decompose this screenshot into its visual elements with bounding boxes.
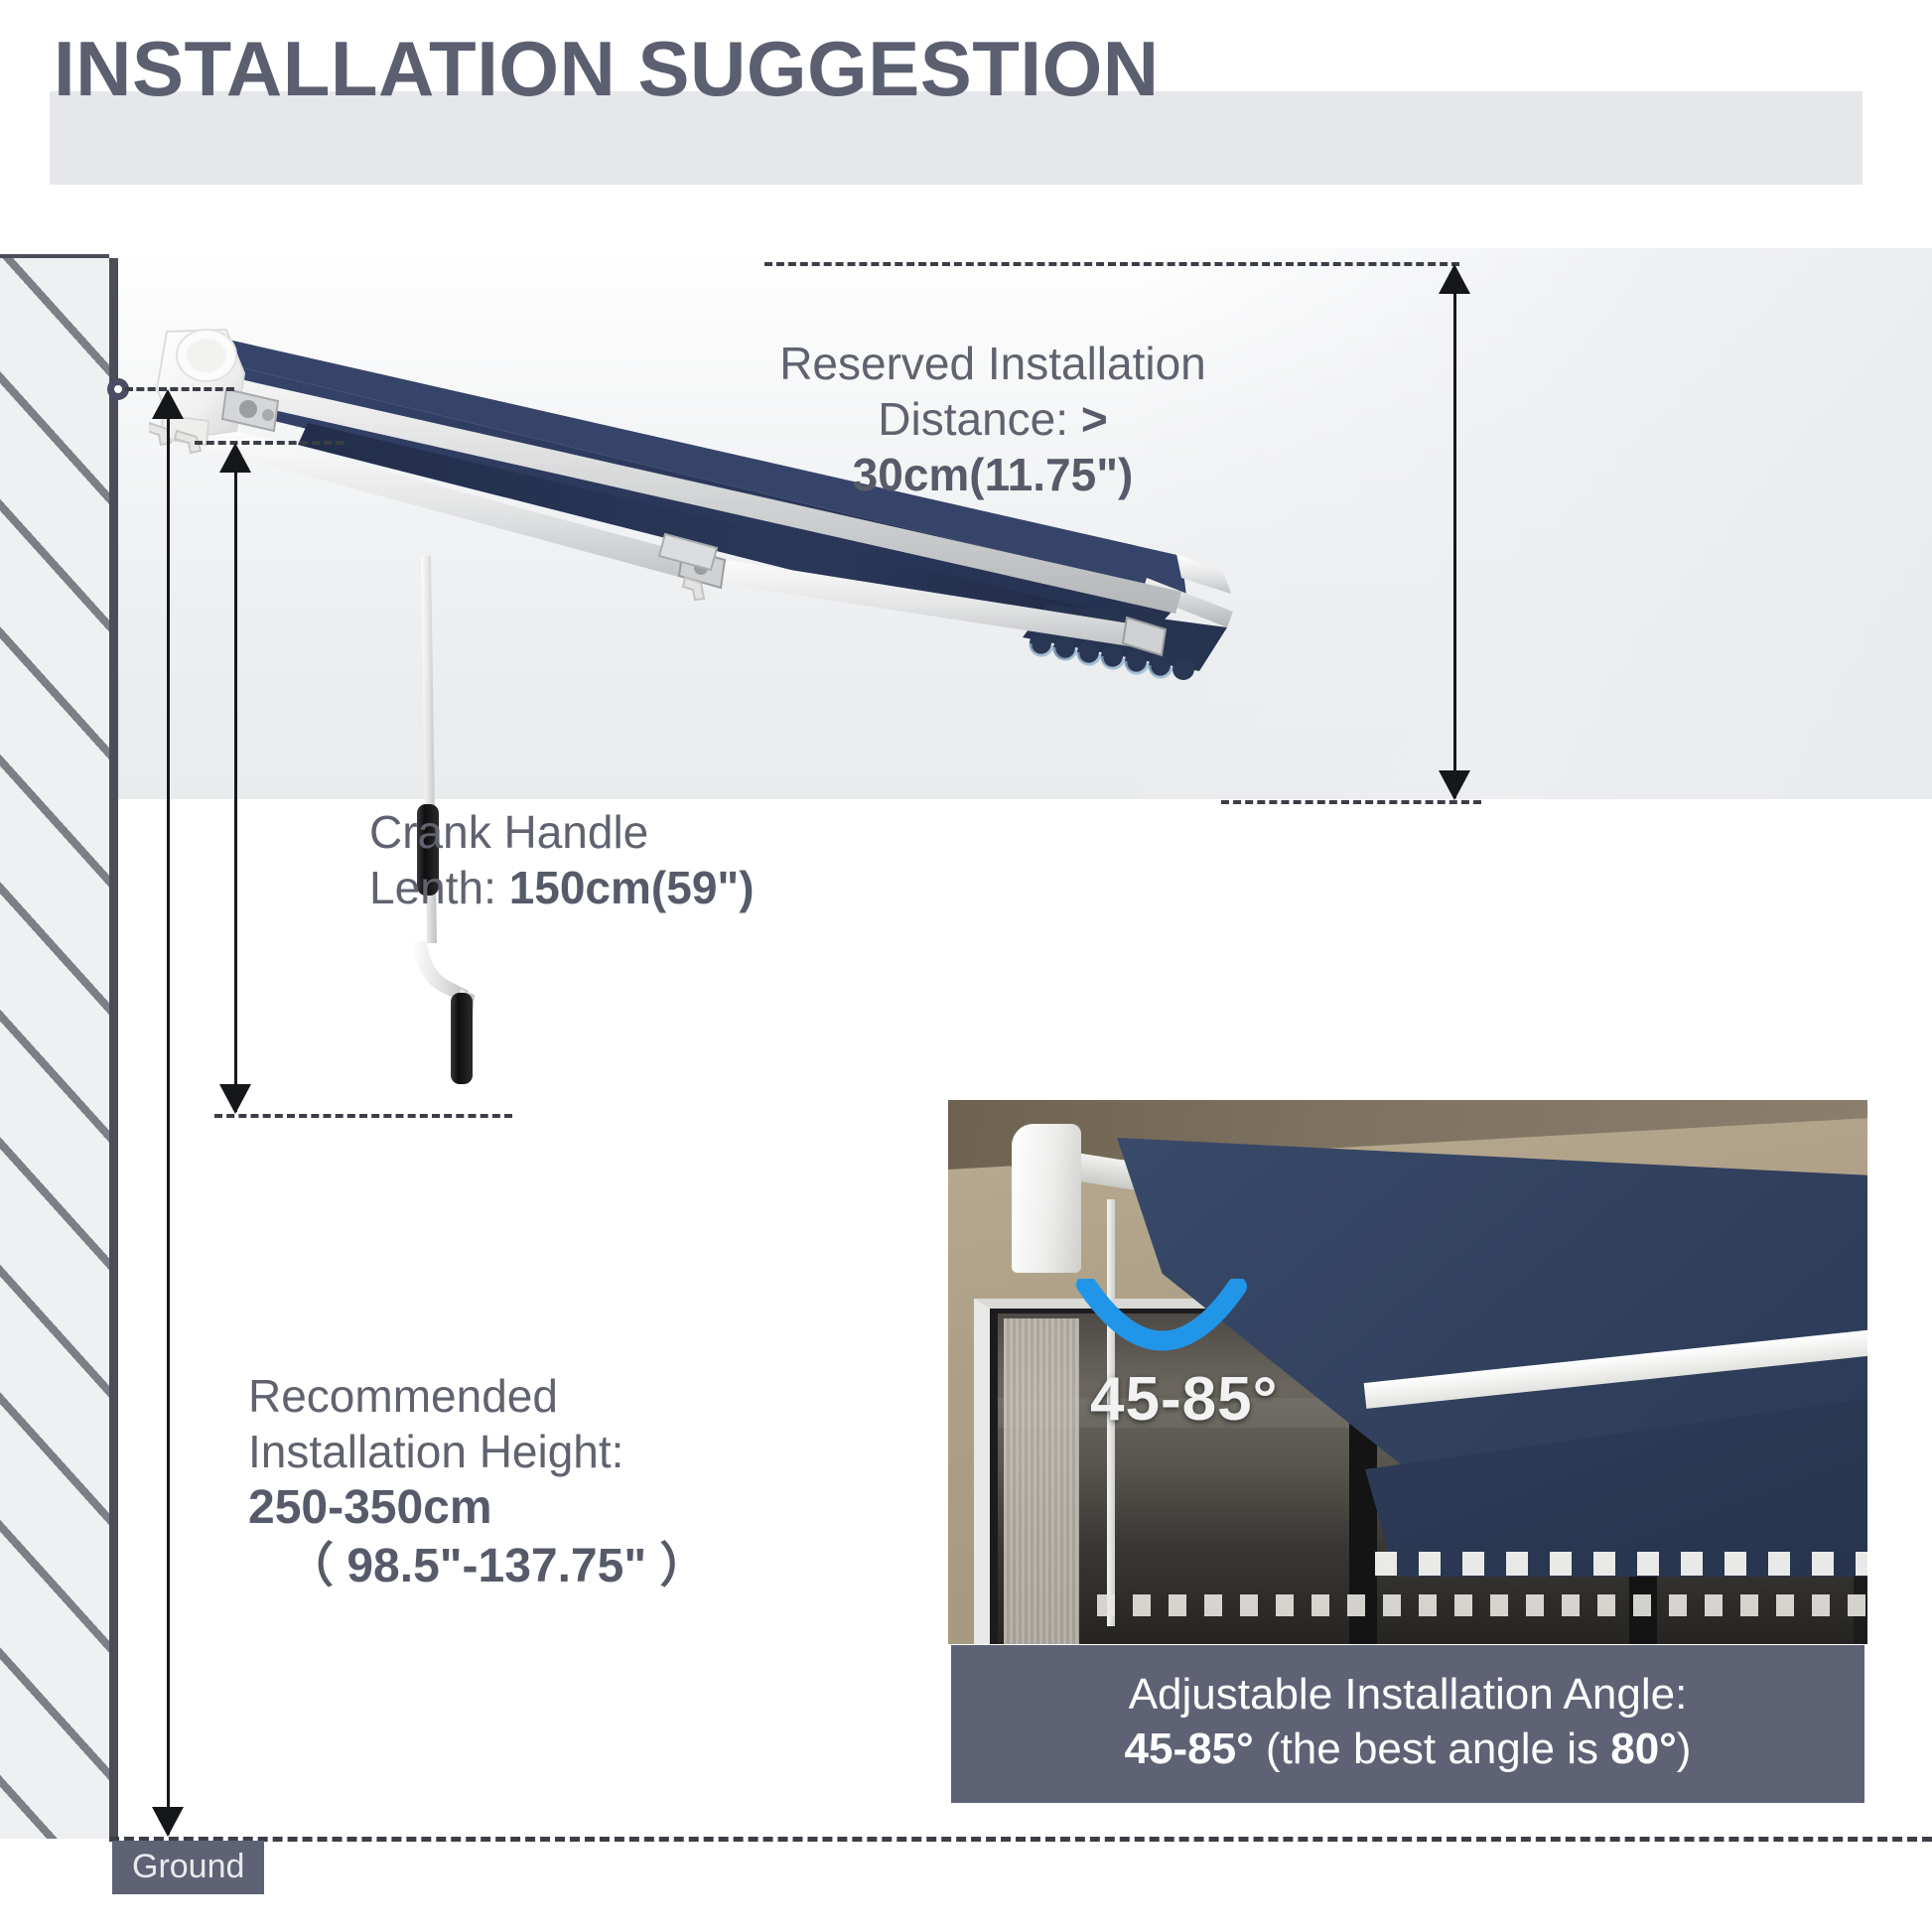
install-height-value-inches: （ 98.5"-137.75" ） xyxy=(248,1538,804,1596)
install-height-label: Recommended xyxy=(248,1370,558,1422)
angle-arc-icon xyxy=(1072,1279,1251,1368)
reserved-distance-label: Reserved Installation xyxy=(779,338,1206,389)
crank-length-arrow-line xyxy=(234,449,237,1112)
caption-line1: Adjustable Installation Angle: xyxy=(1129,1670,1688,1719)
crank-handle-label2: Lenth: xyxy=(369,862,509,913)
ground-dashed-line xyxy=(109,1837,1932,1842)
reserved-bottom-dashed-line xyxy=(1221,800,1481,804)
wall-section xyxy=(0,258,118,1839)
install-height-arrow-bottom-icon xyxy=(152,1807,184,1837)
install-height-value: 250-350cm xyxy=(248,1479,804,1538)
photo-wall-bracket xyxy=(1012,1124,1081,1273)
photo-reflection-valance xyxy=(1097,1594,1867,1616)
crank-length-bottom-dashed-line xyxy=(214,1114,512,1118)
install-height-annotation: Recommended Installation Height: 250-350… xyxy=(248,1368,804,1595)
installation-diagram: INSTALLATION SUGGESTION xyxy=(0,0,1932,1932)
wall-hatch-pattern xyxy=(0,258,118,1839)
crank-length-arrow-top-icon xyxy=(219,443,251,473)
install-height-arrow-line xyxy=(167,395,170,1835)
photo-caption-box: Adjustable Installation Angle: 45-85° (t… xyxy=(951,1645,1864,1803)
photo-sheer-curtain xyxy=(1004,1318,1079,1644)
caption-end: ) xyxy=(1677,1725,1692,1773)
photo-awning-valance xyxy=(1375,1552,1867,1576)
install-height-label2: Installation Height: xyxy=(248,1426,623,1477)
crank-handle-annotation: Crank Handle Lenth: 150cm(59") xyxy=(369,804,886,915)
crank-handle-label: Crank Handle xyxy=(369,806,648,858)
angle-overlay-text: 45-85° xyxy=(1090,1364,1278,1435)
crank-handle-value: 150cm(59") xyxy=(509,862,755,913)
crank-length-arrow-bottom-icon xyxy=(219,1084,251,1114)
reserved-distance-arrow-bottom-icon xyxy=(1439,770,1470,800)
reserved-distance-arrow-top-icon xyxy=(1439,264,1470,294)
arm-pivot-dashed-line xyxy=(195,441,344,445)
install-height-arrow-top-icon xyxy=(152,389,184,419)
caption-best-angle: 80° xyxy=(1610,1725,1677,1773)
reserved-distance-label2: Distance: xyxy=(878,393,1081,445)
page-title: INSTALLATION SUGGESTION xyxy=(54,30,1160,107)
reserved-distance-arrow-line xyxy=(1453,270,1456,798)
caption-mid: (the best angle is xyxy=(1254,1725,1611,1773)
reserved-top-dashed-line xyxy=(764,262,1459,266)
installation-photo xyxy=(948,1100,1867,1644)
caption-angle-range: 45-85° xyxy=(1125,1725,1254,1773)
ground-label: Ground xyxy=(112,1841,264,1894)
reserved-distance-annotation: Reserved Installation Distance: > 30cm(1… xyxy=(735,336,1251,502)
